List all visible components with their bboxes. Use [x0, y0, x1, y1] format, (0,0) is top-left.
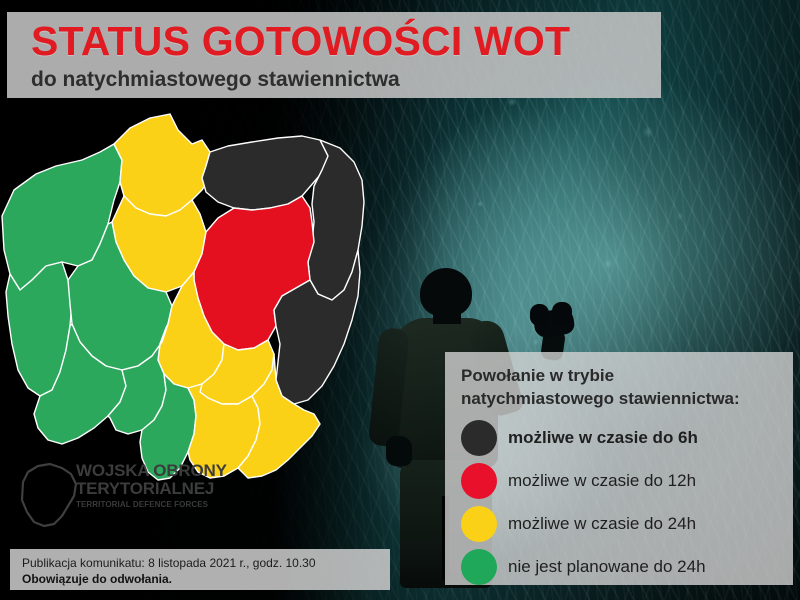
wot-logo-line1: WOJSKA OBRONY [76, 462, 208, 480]
wot-logo-text: WOJSKA OBRONY TERYTORIALNEJ TERRITORIAL … [76, 462, 208, 511]
wot-logo-line2: TERYTORIALNEJ [76, 480, 208, 498]
validity-note: Obowiązuje do odwołania. [22, 571, 390, 587]
legend-item-red-12h[interactable]: możliwe w czasie do 12h [461, 459, 793, 502]
legend-swatch-green-icon [461, 549, 497, 585]
legend-label-green-none: nie jest planowane do 24h [508, 557, 706, 577]
region-warminsko-mazurskie[interactable] [202, 136, 330, 210]
poland-outline-icon [18, 460, 80, 530]
publication-date: Publikacja komunikatu: 8 listopada 2021 … [22, 555, 390, 571]
binoculars-left-barrel [530, 304, 549, 326]
legend-label-black-6h: możliwe w czasie do 6h [508, 428, 698, 448]
second-figure-with-binoculars [528, 300, 586, 352]
infographic-poster: STATUS GOTOWOŚCI WOT do natychmiastowego… [0, 0, 800, 600]
page-title: STATUS GOTOWOŚCI WOT [31, 16, 661, 66]
legend-label-yellow-24h: możliwe w czasie do 24h [508, 514, 696, 534]
legend-item-yellow-24h[interactable]: możliwe w czasie do 24h [461, 502, 793, 545]
legend-label-red-12h: możliwe w czasie do 12h [508, 471, 696, 491]
footer-panel: Publikacja komunikatu: 8 listopada 2021 … [10, 549, 390, 590]
legend-swatch-yellow-icon [461, 506, 497, 542]
legend-title-line2: natychmiastowego stawiennictwa: [461, 387, 793, 410]
binoculars-right-barrel [552, 302, 572, 325]
legend-items: możliwe w czasie do 6h możliwe w czasie … [461, 416, 793, 588]
page-subtitle: do natychmiastowego stawiennictwa [31, 66, 661, 94]
title-banner: STATUS GOTOWOŚCI WOT do natychmiastowego… [7, 12, 661, 98]
legend-title-line1: Powołanie w trybie [461, 364, 793, 387]
legend-swatch-black-icon [461, 420, 497, 456]
legend-swatch-red-icon [461, 463, 497, 499]
legend-panel: Powołanie w trybie natychmiastowego staw… [445, 352, 793, 585]
legend-item-green-none[interactable]: nie jest planowane do 24h [461, 545, 793, 588]
legend-item-black-6h[interactable]: możliwe w czasie do 6h [461, 416, 793, 459]
wot-logo-line3: TERRITORIAL DEFENCE FORCES [76, 499, 208, 511]
wot-logo: WOJSKA OBRONY TERYTORIALNEJ TERRITORIAL … [18, 458, 208, 532]
